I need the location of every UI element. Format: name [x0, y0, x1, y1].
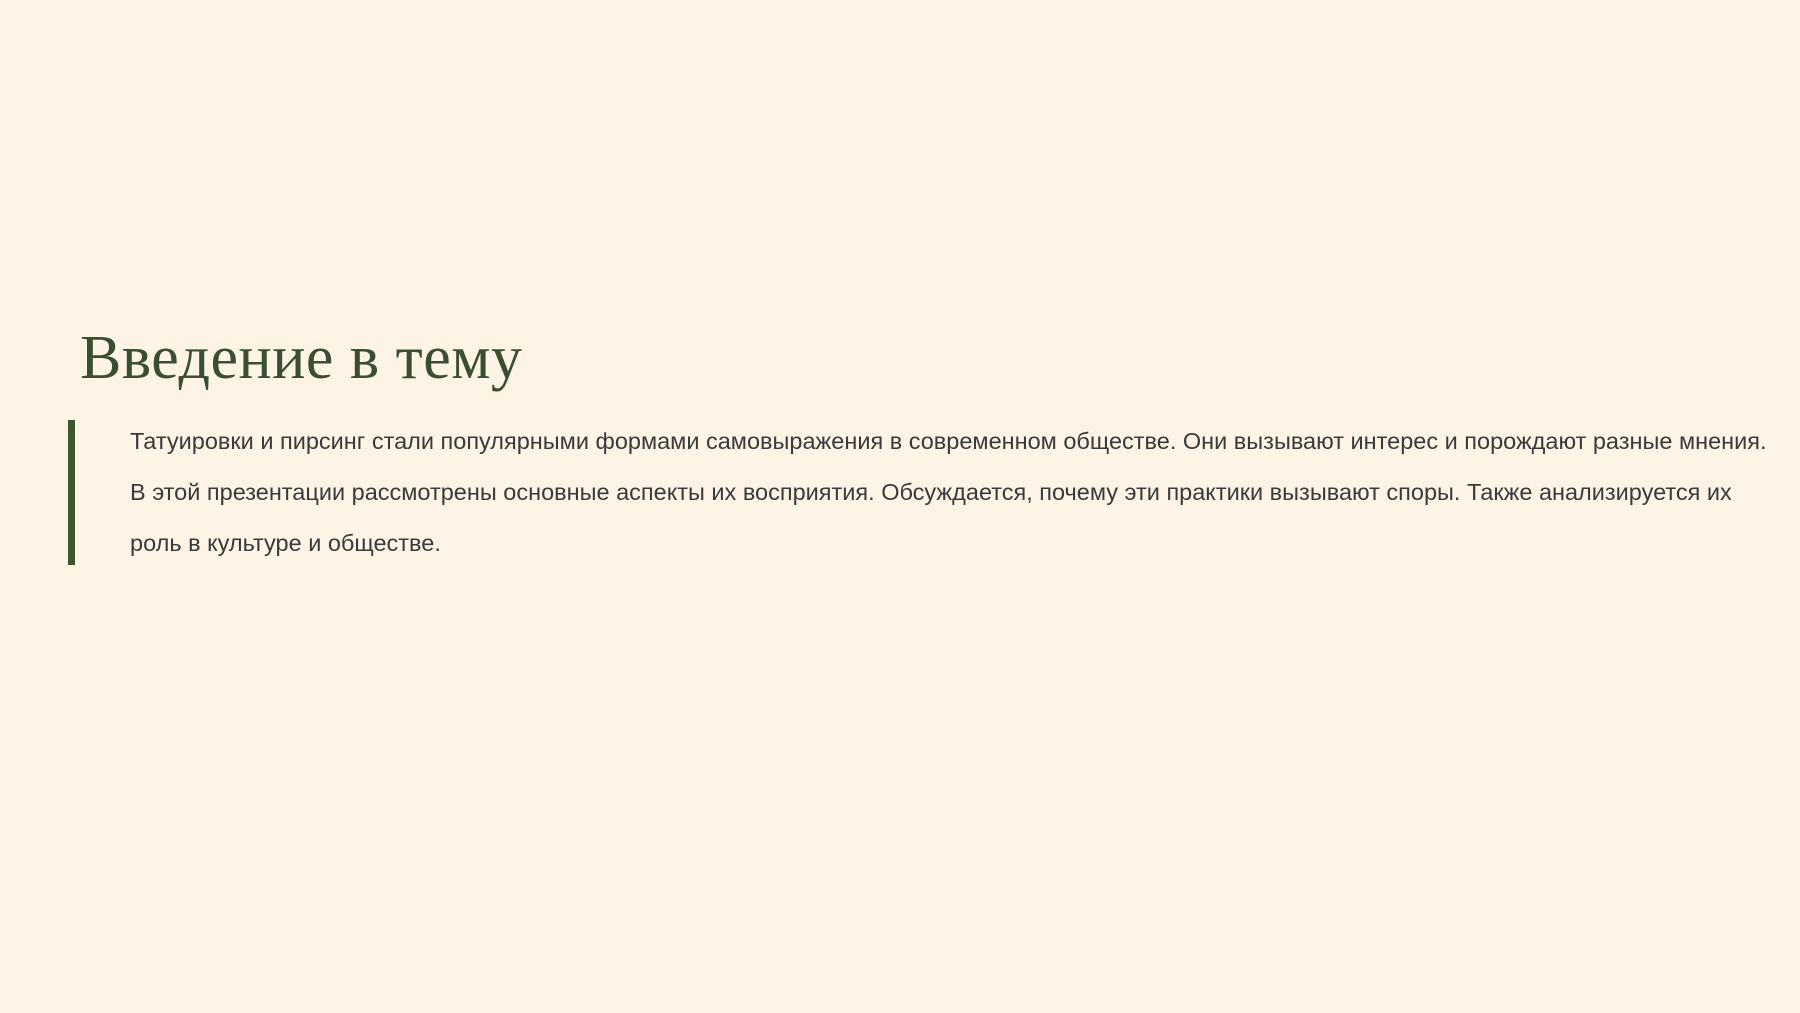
presentation-slide: Введение в тему Татуировки и пирсинг ста…	[0, 0, 1800, 1013]
accent-bar	[68, 420, 75, 565]
body-text-block: Татуировки и пирсинг стали популярными ф…	[68, 416, 1768, 569]
body-paragraph: Татуировки и пирсинг стали популярными ф…	[130, 416, 1768, 569]
page-title: Введение в тему	[80, 326, 1768, 392]
slide-content: Введение в тему Татуировки и пирсинг ста…	[68, 326, 1768, 569]
